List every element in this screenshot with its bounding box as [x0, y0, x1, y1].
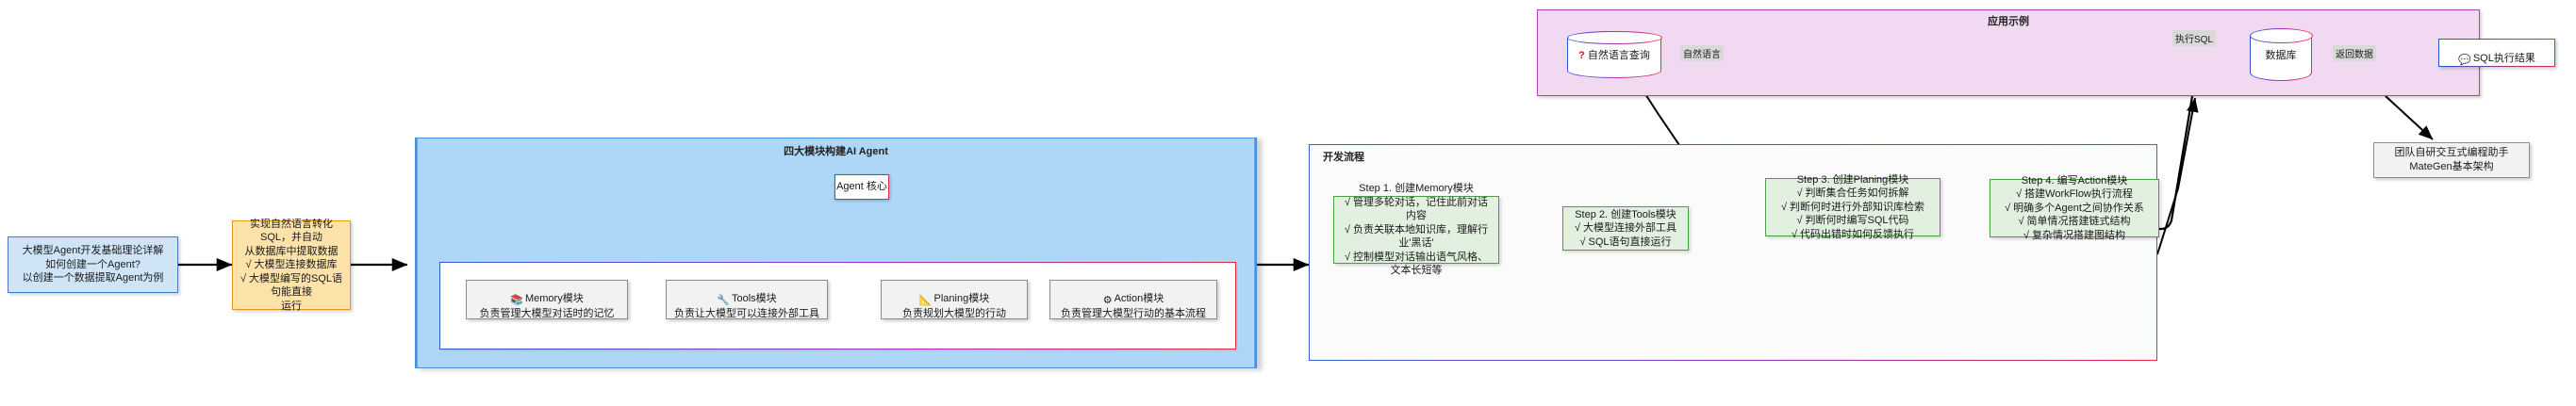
- module-tools: 🔧Tools模块 负责让大模型可以连接外部工具: [666, 280, 828, 319]
- edge-label-execute-sql: 执行SQL: [2172, 30, 2216, 46]
- example-group-title: 应用示例: [1537, 13, 2480, 28]
- database-label: 数据库: [2266, 47, 2297, 62]
- overview-box: 大模型Agent开发基础理论详解 如何创建一个Agent? 以创建一个数据提取A…: [8, 236, 178, 293]
- module-tools-title: 🔧Tools模块: [717, 278, 776, 307]
- wrench-icon: 🔧: [717, 294, 730, 308]
- gear-icon: ⚙: [1103, 294, 1113, 308]
- mategen-text: 团队自研交互式编程助手 MateGen基本架构: [2380, 146, 2523, 173]
- module-action-desc: 负责管理大模型行动的基本流程: [1061, 307, 1206, 321]
- module-planing-title: 📐Planing模块: [919, 278, 989, 307]
- goal-box: 实现自然语言转化SQL，并自动 从数据库中提取数据 √ 大模型连接数据库 √ 大…: [232, 220, 351, 310]
- module-memory: 📚Memory模块 负责管理大模型对话时的记忆: [466, 280, 628, 319]
- agent-group-title: 四大模块构建AI Agent: [415, 143, 1257, 158]
- module-planing: 📐Planing模块 负责规划大模型的行动: [881, 280, 1028, 319]
- diagram-canvas: 大模型Agent开发基础理论详解 如何创建一个Agent? 以创建一个数据提取A…: [0, 0, 2576, 406]
- books-icon: 📚: [510, 294, 523, 308]
- module-planing-desc: 负责规划大模型的行动: [902, 307, 1006, 321]
- chat-bubble-icon: 💬: [2458, 54, 2471, 68]
- step-1-box: Step 1. 创建Memory模块 √ 管理多轮对话，记住此前对话 内容 √ …: [1333, 196, 1499, 264]
- step-4-box: Step 4. 编写Action模块 √ 搭建WorkFlow执行流程 √ 明确…: [1990, 179, 2159, 237]
- step-3-text: Step 3. 创建Planing模块 √ 判断集合任务如何拆解 √ 判断何时进…: [1773, 173, 1933, 242]
- module-memory-desc: 负责管理大模型对话时的记忆: [480, 307, 615, 321]
- module-action-title: ⚙Action模块: [1103, 278, 1164, 307]
- step-2-text: Step 2. 创建Tools模块 √ 大模型连接外部工具 √ SQL语句直接运…: [1570, 208, 1681, 250]
- edge-label-natural-language: 自然语言: [1680, 45, 1724, 61]
- agent-core-box: Agent 核心: [834, 174, 889, 200]
- step-4-text: Step 4. 编写Action模块 √ 搭建WorkFlow执行流程 √ 明确…: [1997, 174, 2152, 243]
- module-memory-title: 📚Memory模块: [510, 278, 583, 307]
- step-1-text: Step 1. 创建Memory模块 √ 管理多轮对话，记住此前对话 内容 √ …: [1341, 182, 1492, 278]
- module-tools-desc: 负责让大模型可以连接外部工具: [674, 307, 819, 321]
- database-cylinder: 数据库: [2250, 28, 2312, 81]
- agent-core-label: Agent 核心: [835, 180, 888, 194]
- nlq-label: ? 自然语言查询: [1578, 47, 1650, 62]
- goal-text: 实现自然语言转化SQL，并自动 从数据库中提取数据 √ 大模型连接数据库 √ 大…: [239, 218, 344, 314]
- edge-label-return-data: 返回数据: [2333, 45, 2376, 61]
- step-2-box: Step 2. 创建Tools模块 √ 大模型连接外部工具 √ SQL语句直接运…: [1562, 206, 1689, 251]
- module-action: ⚙Action模块 负责管理大模型行动的基本流程: [1049, 280, 1217, 319]
- natural-language-query-db: ? 自然语言查询: [1567, 31, 1661, 78]
- question-icon: ?: [1578, 50, 1585, 61]
- overview-text: 大模型Agent开发基础理论详解 如何创建一个Agent? 以创建一个数据提取A…: [14, 244, 172, 285]
- step-3-box: Step 3. 创建Planing模块 √ 判断集合任务如何拆解 √ 判断何时进…: [1765, 178, 1940, 236]
- ruler-icon: 📐: [919, 294, 933, 308]
- sql-result-box: 💬SQL执行结果: [2438, 39, 2555, 67]
- dev-group-title: 开发流程: [1323, 149, 1364, 164]
- sql-result-label: 💬SQL执行结果: [2458, 38, 2535, 67]
- mategen-box: 团队自研交互式编程助手 MateGen基本架构: [2373, 142, 2530, 178]
